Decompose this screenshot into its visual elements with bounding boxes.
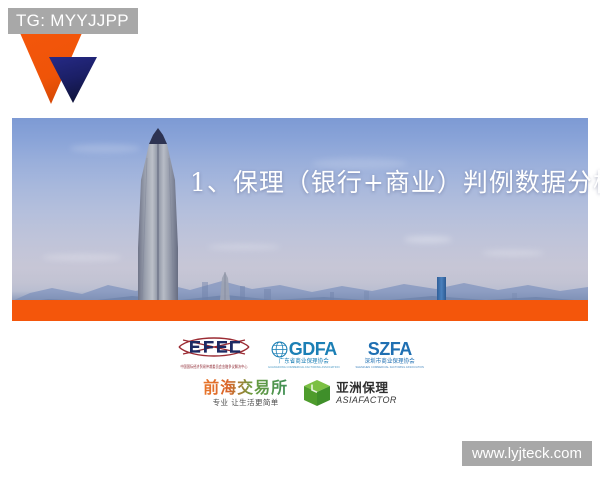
szfa-english-name: SHENZHEN COMMERCIAL FACTORING ASSOCIATIO…	[356, 366, 424, 370]
background-building	[264, 289, 271, 300]
qianhai-exchange-name: 前海交易所	[203, 378, 288, 397]
qianhai-exchange-tagline: 专业 让生活更简单	[203, 397, 288, 408]
cloud-shape	[404, 236, 452, 243]
asiafactor-english-name: ASIAFACTOR	[336, 395, 397, 406]
partner-logo-cfec: 中国国际经济贸易仲裁委员会金融争议解决中心	[176, 334, 252, 370]
telegram-tag-watermark: TG: MYYJJPP	[8, 8, 138, 34]
hero-photo-banner	[12, 118, 588, 321]
partner-logo-szfa: SZFA 深圳市商业保理协会 SHENZHEN COMMERCIAL FACTO…	[356, 340, 424, 370]
hero-accent-bar	[12, 300, 588, 321]
background-building	[512, 293, 517, 300]
hero-title: 1、保理（银行+商业）判例数据分析	[190, 168, 600, 198]
cloud-shape	[42, 254, 122, 261]
gdfa-english-name: GUANGDONG COMMERCIAL FACTORING ASSOCIATI…	[268, 366, 340, 370]
partner-logo-asiafactor: 亚洲保理 ASIAFACTOR	[302, 378, 397, 408]
cfec-mark-icon	[177, 334, 251, 360]
green-cube-icon	[302, 378, 332, 408]
partner-logo-strip: 中国国际经济贸易仲裁委员会金融争议解决中心 GDFA 广东省商业保理协会 GUA…	[0, 332, 600, 413]
skyscraper-tower	[130, 128, 186, 300]
globe-icon	[271, 341, 288, 358]
cloud-shape	[482, 250, 544, 256]
site-url-watermark: www.lyjteck.com	[462, 441, 592, 466]
szfa-acronym: SZFA	[356, 340, 424, 359]
brand-logo	[20, 30, 112, 106]
asiafactor-chinese-name: 亚洲保理	[336, 380, 397, 395]
background-building	[364, 291, 369, 300]
partner-logo-row-top: 中国国际经济贸易仲裁委员会金融争议解决中心 GDFA 广东省商业保理协会 GUA…	[0, 332, 600, 370]
background-building	[330, 292, 334, 300]
background-building	[202, 282, 208, 300]
cfec-subtitle: 中国国际经济贸易仲裁委员会金融争议解决中心	[176, 364, 252, 370]
partner-logo-qianhai-exchange: 前海交易所 专业 让生活更简单	[203, 378, 288, 408]
gdfa-acronym: GDFA	[289, 340, 337, 359]
triangle-logo-icon	[20, 30, 112, 106]
partner-logo-row-bottom: 前海交易所 专业 让生活更简单 亚洲保理 ASIAFACTOR	[0, 373, 600, 413]
partner-logo-gdfa: GDFA 广东省商业保理协会 GUANGDONG COMMERCIAL FACT…	[268, 340, 340, 370]
secondary-building	[218, 272, 232, 300]
background-building	[240, 286, 245, 300]
distant-blue-tower	[437, 277, 446, 300]
cloud-shape	[208, 244, 280, 250]
